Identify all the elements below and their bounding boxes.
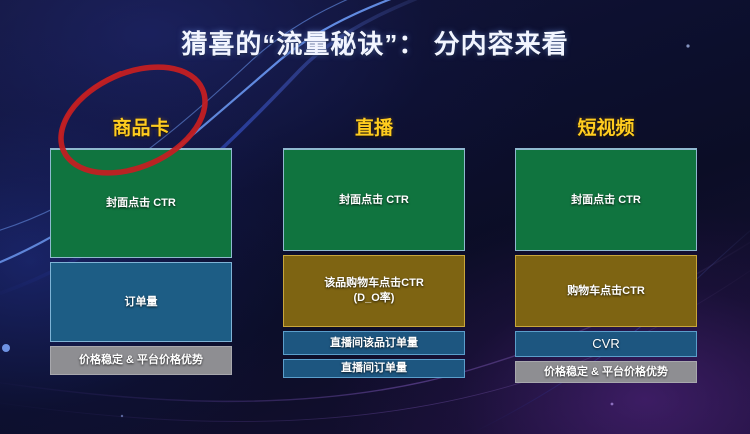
metric-box-price-stability[interactable]: 价格稳定 & 平台价格优势 bbox=[515, 361, 697, 383]
metric-label: 封面点击 CTR bbox=[339, 193, 409, 208]
metric-box-room-product-orders[interactable]: 直播间该品订单量 bbox=[283, 331, 465, 355]
column-heading-live-stream: 直播 bbox=[283, 113, 465, 140]
column-box-stack-live-stream: 封面点击 CTR 该品购物车点击CTR (D_O率) 直播间该品订单量 直播间订… bbox=[283, 148, 465, 378]
metric-label: CVR bbox=[592, 335, 619, 353]
metric-box-cart-click-ctr[interactable]: 该品购物车点击CTR (D_O率) bbox=[283, 255, 465, 327]
column-box-stack-short-video: 封面点击 CTR 购物车点击CTR CVR 价格稳定 & 平台价格优势 bbox=[515, 148, 697, 383]
metric-box-cover-click-ctr[interactable]: 封面点击 CTR bbox=[515, 148, 697, 251]
metric-label: 价格稳定 & 平台价格优势 bbox=[79, 353, 203, 368]
metric-label: 封面点击 CTR bbox=[571, 193, 641, 208]
metric-label: 价格稳定 & 平台价格优势 bbox=[544, 365, 668, 380]
metric-label: 封面点击 CTR bbox=[106, 196, 176, 211]
metric-box-price-stability[interactable]: 价格稳定 & 平台价格优势 bbox=[50, 346, 232, 375]
metric-label: 直播间订单量 bbox=[341, 361, 407, 376]
metric-label: 直播间该品订单量 bbox=[330, 336, 418, 351]
metric-label-block: 该品购物车点击CTR (D_O率) bbox=[324, 276, 424, 306]
column-heading-short-video: 短视频 bbox=[515, 113, 697, 140]
slide-title: 猜喜的“流量秘诀”： 分内容来看 bbox=[0, 24, 750, 61]
metric-label: 购物车点击CTR bbox=[567, 284, 645, 299]
slide-canvas: 猜喜的“流量秘诀”： 分内容来看 商品卡 封面点击 CTR 订单量 价格稳定 &… bbox=[0, 0, 750, 434]
metric-box-cart-click-ctr[interactable]: 购物车点击CTR bbox=[515, 255, 697, 327]
metric-box-cvr[interactable]: CVR bbox=[515, 331, 697, 357]
metric-label-line-1: 该品购物车点击CTR bbox=[324, 276, 424, 291]
metric-label-line-2: (D_O率) bbox=[324, 291, 424, 306]
metric-box-cover-click-ctr[interactable]: 封面点击 CTR bbox=[283, 148, 465, 251]
metric-box-cover-click-ctr[interactable]: 封面点击 CTR bbox=[50, 148, 232, 258]
metric-box-order-volume[interactable]: 订单量 bbox=[50, 262, 232, 342]
column-box-stack-product-card: 封面点击 CTR 订单量 价格稳定 & 平台价格优势 bbox=[50, 148, 232, 375]
metric-box-room-orders[interactable]: 直播间订单量 bbox=[283, 359, 465, 378]
metric-label: 订单量 bbox=[125, 295, 158, 310]
column-heading-product-card: 商品卡 bbox=[50, 113, 232, 140]
